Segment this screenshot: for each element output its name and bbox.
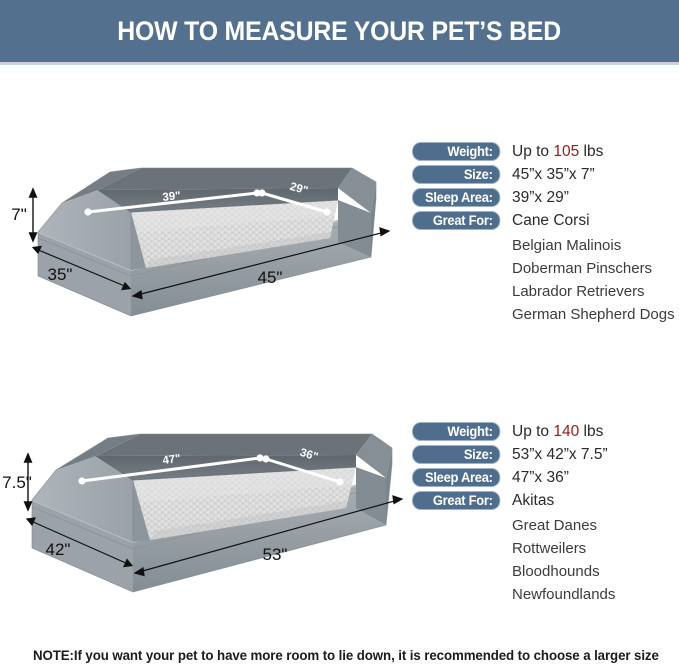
spec-row-weight: Weight: Up to 105 lbs bbox=[412, 142, 679, 165]
sleep-area-value: 47”x 36” bbox=[512, 468, 569, 487]
breed-item: Akitas bbox=[512, 491, 554, 510]
bed-diagram-large-svg: 39" 29" 7" 35" 45" bbox=[0, 120, 410, 350]
page-header-banner: HOW TO MEASURE YOUR PET’S BED bbox=[0, 0, 679, 62]
bed-panel-large: 39" 29" 7" 35" 45" Weight: Up to 105 lbs… bbox=[0, 120, 679, 350]
great-for-pill-label: Great For: bbox=[412, 211, 500, 230]
depth-label-xlarge: 42" bbox=[46, 540, 71, 559]
spec-row-great-for: Great For: Cane Corsi bbox=[412, 211, 679, 234]
weight-pill-label: Weight: bbox=[412, 422, 500, 441]
breed-item: Bloodhounds bbox=[512, 560, 679, 583]
sleep-area-pill-label: Sleep Area: bbox=[412, 468, 500, 487]
spec-list-xlarge: Weight: Up to 140 lbs Size: 53”x 42”x 7.… bbox=[412, 422, 679, 606]
spec-row-great-for: Great For: Akitas bbox=[412, 491, 679, 514]
breed-item: Doberman Pinschers bbox=[512, 257, 679, 280]
weight-suffix: lbs bbox=[579, 423, 603, 440]
breed-list-xlarge: Great Danes Rottweilers Bloodhounds Newf… bbox=[512, 514, 679, 606]
bed-illustration-large: 39" 29" 7" 35" 45" bbox=[0, 120, 410, 350]
breed-item: German Shepherd Dogs bbox=[512, 303, 679, 326]
weight-value: Up to 140 lbs bbox=[512, 422, 603, 441]
height-dimension-large bbox=[30, 189, 37, 241]
weight-prefix: Up to bbox=[512, 423, 553, 440]
width-label-large: 45" bbox=[258, 268, 283, 287]
weight-number: 105 bbox=[553, 143, 579, 160]
height-label-xlarge: 7.5" bbox=[2, 473, 32, 492]
bed-panel-xlarge: 47" 36" 7.5" 42" 53" Weight: Up to 140 l… bbox=[0, 400, 679, 630]
sleep-length-label-xlarge: 47" bbox=[162, 453, 182, 467]
footer-note: NOTE:If you want your pet to have more r… bbox=[33, 648, 659, 663]
breed-item: Newfoundlands bbox=[512, 583, 679, 606]
bed-illustration-xlarge: 47" 36" 7.5" 42" 53" bbox=[0, 400, 410, 630]
size-value: 53”x 42”x 7.5” bbox=[512, 445, 608, 464]
bed-diagram-xlarge-svg: 47" 36" 7.5" 42" 53" bbox=[0, 400, 410, 630]
breed-item: Rottweilers bbox=[512, 537, 679, 560]
weight-suffix: lbs bbox=[579, 143, 603, 160]
size-pill-label: Size: bbox=[412, 165, 500, 184]
breed-item: Cane Corsi bbox=[512, 211, 590, 230]
breed-item: Great Danes bbox=[512, 514, 679, 537]
size-value: 45”x 35”x 7” bbox=[512, 165, 595, 184]
height-label-large: 7" bbox=[11, 205, 27, 224]
sleep-area-value: 39”x 29” bbox=[512, 188, 569, 207]
weight-prefix: Up to bbox=[512, 143, 553, 160]
weight-value: Up to 105 lbs bbox=[512, 142, 603, 161]
spec-list-large: Weight: Up to 105 lbs Size: 45”x 35”x 7”… bbox=[412, 142, 679, 326]
weight-number: 140 bbox=[553, 423, 579, 440]
width-label-xlarge: 53" bbox=[263, 545, 288, 564]
breed-list-large: Belgian Malinois Doberman Pinschers Labr… bbox=[512, 234, 679, 326]
size-pill-label: Size: bbox=[412, 445, 500, 464]
breed-item: Belgian Malinois bbox=[512, 234, 679, 257]
spec-row-sleep-area: Sleep Area: 39”x 29” bbox=[412, 188, 679, 211]
spec-row-size: Size: 53”x 42”x 7.5” bbox=[412, 445, 679, 468]
sleep-area-pill-label: Sleep Area: bbox=[412, 188, 500, 207]
weight-pill-label: Weight: bbox=[412, 142, 500, 161]
page-title: HOW TO MEASURE YOUR PET’S BED bbox=[118, 16, 562, 47]
depth-label-large: 35" bbox=[48, 265, 73, 284]
breed-item: Labrador Retrievers bbox=[512, 280, 679, 303]
spec-row-sleep-area: Sleep Area: 47”x 36” bbox=[412, 468, 679, 491]
header-underline bbox=[0, 62, 679, 65]
spec-row-weight: Weight: Up to 140 lbs bbox=[412, 422, 679, 445]
great-for-pill-label: Great For: bbox=[412, 491, 500, 510]
sleep-length-label-large: 39" bbox=[162, 190, 181, 204]
spec-row-size: Size: 45”x 35”x 7” bbox=[412, 165, 679, 188]
